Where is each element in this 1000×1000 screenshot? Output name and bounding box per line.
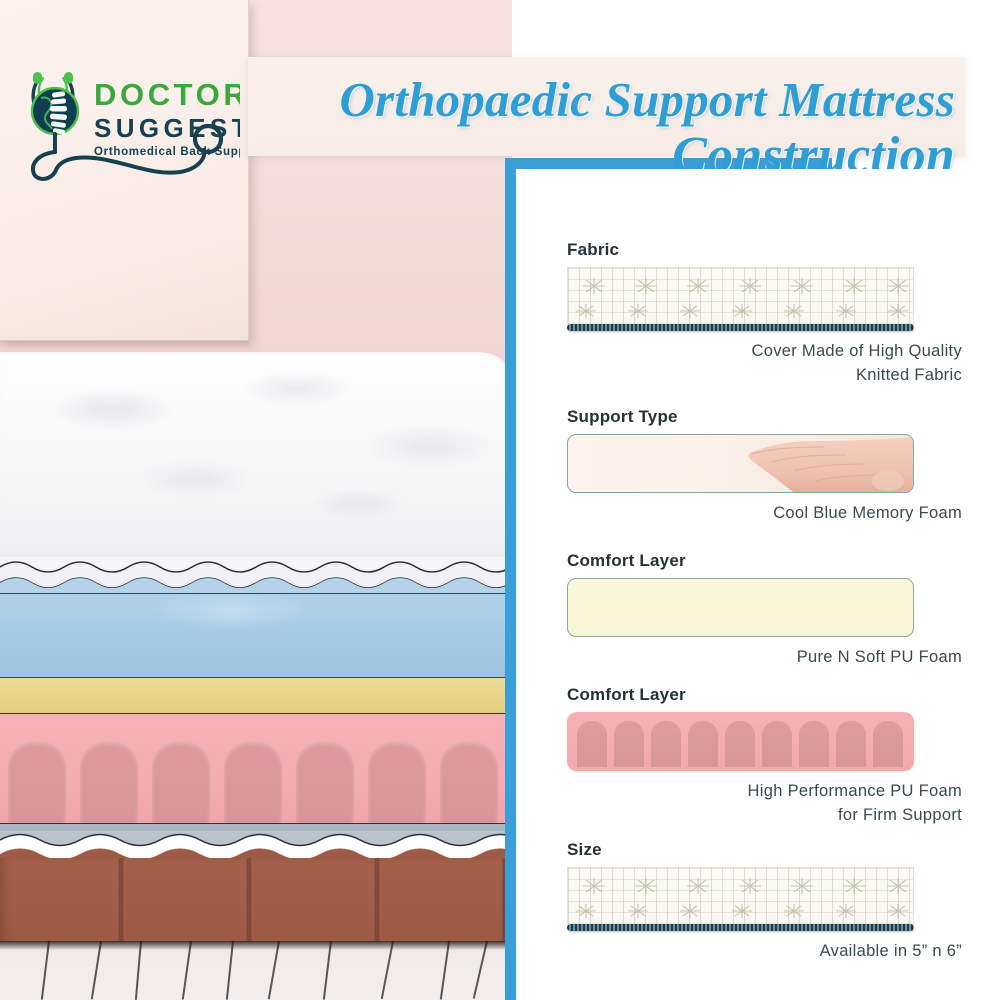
frame-accent-horizontal xyxy=(505,158,832,169)
spec-label-comfort-layer-soft: Comfort Layer xyxy=(567,551,1000,571)
knitted-fabric-icon xyxy=(567,267,914,324)
spec-caption-support-type: Cool Blue Memory Foam xyxy=(516,501,962,525)
spec-section-comfort-layer-soft: Comfort Layer Pure N Soft PU Foam xyxy=(516,551,1000,669)
spec-caption-size-line1: Available in 5” n 6” xyxy=(516,939,962,963)
logo-tagline: Orthomedical Back Support xyxy=(94,146,240,158)
spec-label-support-type: Support Type xyxy=(567,407,1000,427)
infographic-canvas: DOCTOR SUGGESTED Orthomedical Back Suppo… xyxy=(0,0,1000,1000)
layer-wavy-white-divider xyxy=(0,557,512,593)
layer-wavy-gray-divider xyxy=(0,824,512,858)
frame-accent-vertical xyxy=(505,158,516,1000)
spec-section-fabric: Fabric xyxy=(516,240,1000,387)
spec-caption-comfort-layer-firm-line1: High Performance PU Foam xyxy=(516,779,962,803)
layer-quilted-knitted-cover xyxy=(0,352,512,557)
spec-caption-comfort-layer-firm: High Performance PU Foam for Firm Suppor… xyxy=(516,779,962,827)
spec-label-fabric: Fabric xyxy=(567,240,1000,260)
logo-word-doctor: DOCTOR xyxy=(94,77,240,112)
spec-caption-fabric: Cover Made of High Quality Knitted Fabri… xyxy=(516,339,962,387)
spec-section-size: Size xyxy=(516,840,1000,963)
spec-caption-comfort-layer-firm-line2: for Firm Support xyxy=(516,803,962,827)
spec-caption-comfort-layer-soft-line1: Pure N Soft PU Foam xyxy=(516,645,962,669)
spec-swatch-comfort-layer-firm xyxy=(567,712,914,771)
knitted-fabric-icon-size xyxy=(567,867,914,924)
mattress-layer-stack xyxy=(0,352,512,1000)
spec-caption-comfort-layer-soft: Pure N Soft PU Foam xyxy=(516,645,962,669)
spec-swatch-comfort-layer-soft xyxy=(567,578,914,637)
spec-label-size: Size xyxy=(567,840,1000,860)
layer-cool-blue-memory-foam xyxy=(0,593,512,678)
specs-panel: Fabric xyxy=(516,169,1000,1000)
cream-pu-foam-icon xyxy=(567,578,914,637)
memory-foam-photo xyxy=(567,434,914,493)
zipper-edge-icon-size xyxy=(567,924,914,931)
spec-swatch-fabric xyxy=(567,267,914,331)
wooden-floor xyxy=(0,941,512,1000)
pink-arched-foam-icon xyxy=(567,712,914,771)
spec-label-comfort-layer-firm: Comfort Layer xyxy=(567,685,1000,705)
spec-section-support-type: Support Type xyxy=(516,407,1000,525)
title-band xyxy=(248,57,965,156)
doctor-suggested-logo: DOCTOR SUGGESTED Orthomedical Back Suppo… xyxy=(12,58,240,188)
logo-word-suggested: SUGGESTED xyxy=(94,113,240,143)
layer-pure-n-soft-pu-foam xyxy=(0,678,512,714)
hand-pressing-icon xyxy=(738,435,913,493)
spec-caption-size: Available in 5” n 6” xyxy=(516,939,962,963)
spec-swatch-support-type xyxy=(567,434,914,493)
zipper-edge-icon xyxy=(567,324,914,331)
spec-caption-fabric-line2: Knitted Fabric xyxy=(516,363,962,387)
spec-caption-support-type-line1: Cool Blue Memory Foam xyxy=(516,501,962,525)
spec-section-comfort-layer-firm: Comfort Layer High Performance PU Foam f… xyxy=(516,685,1000,827)
layer-high-performance-pu-foam xyxy=(0,714,512,824)
spec-swatch-size xyxy=(567,867,914,931)
spec-caption-fabric-line1: Cover Made of High Quality xyxy=(516,339,962,363)
